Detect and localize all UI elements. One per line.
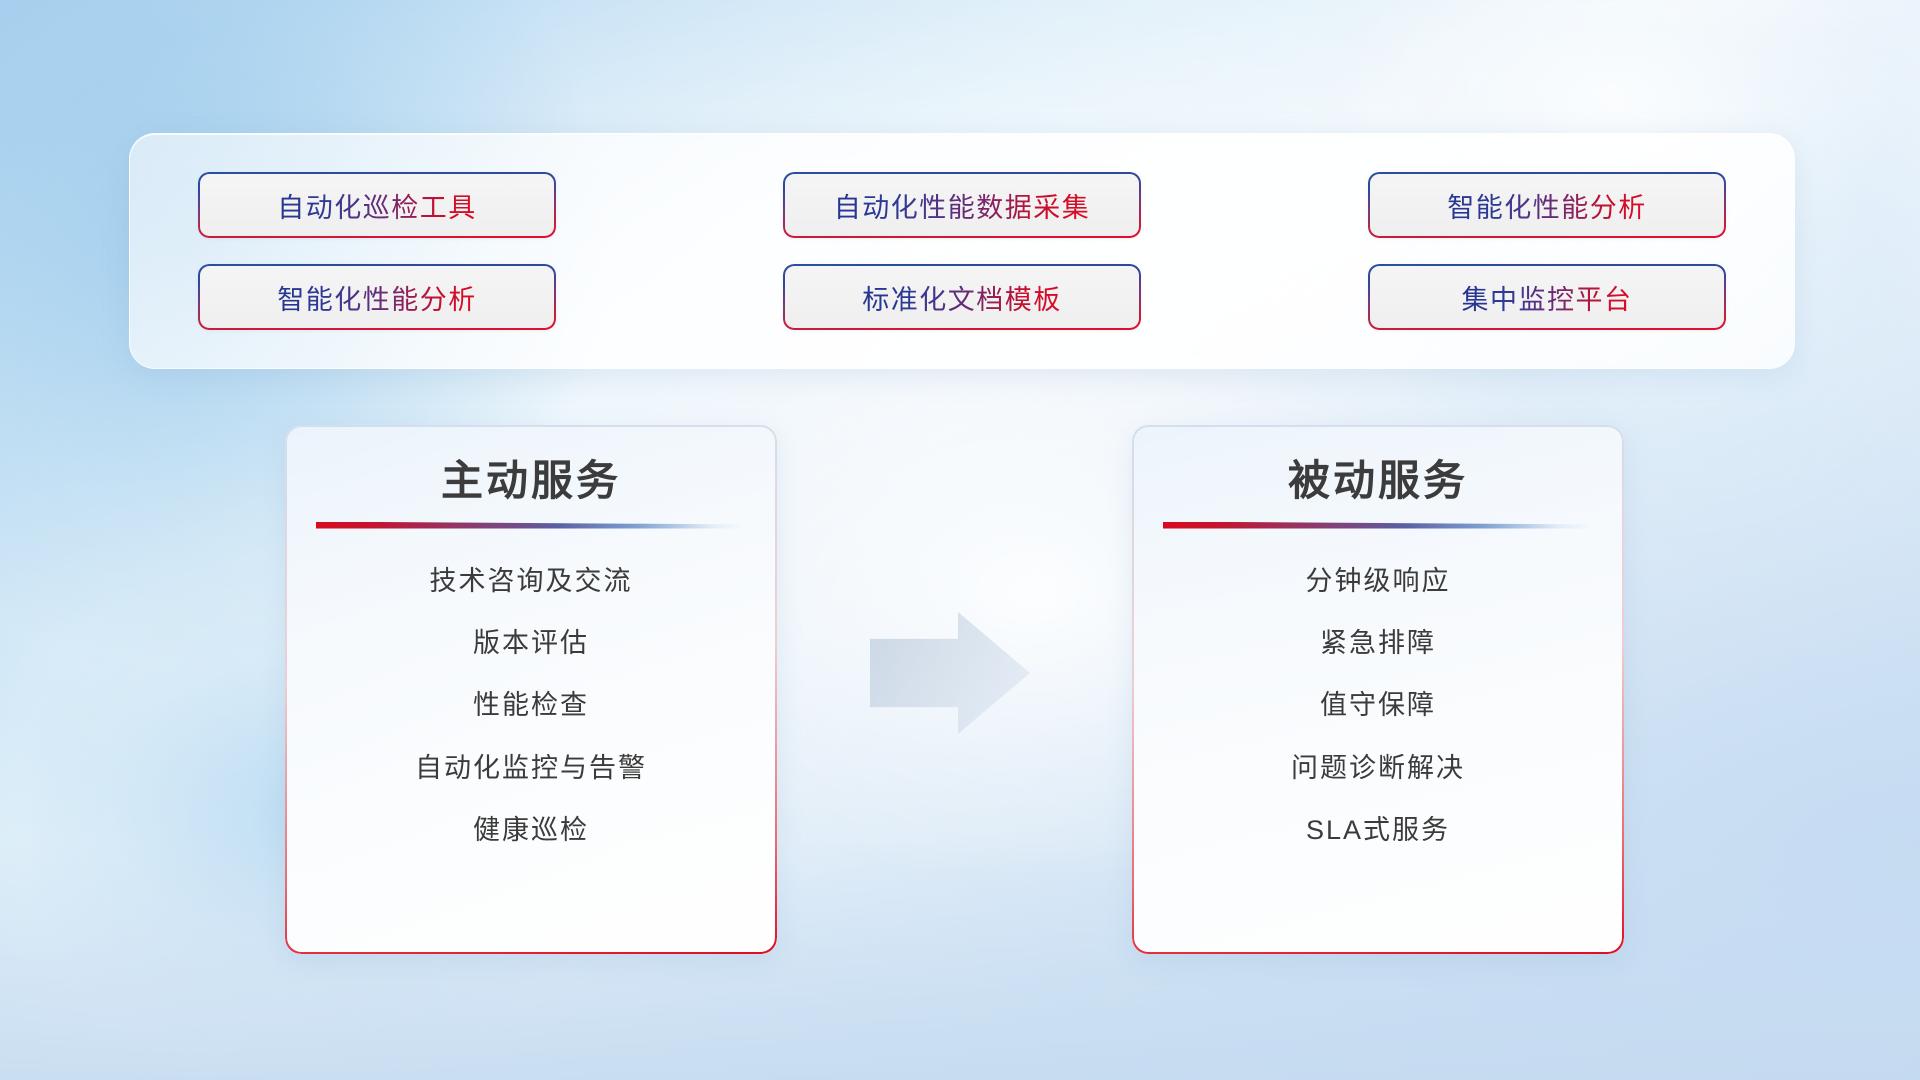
list-item: 值守保障 [1320, 689, 1436, 721]
card-service-list: 技术咨询及交流 版本评估 性能检查 自动化监控与告警 健康巡检 [285, 565, 777, 847]
capability-chip-intelligent-performance-analysis[interactable]: 智能化性能分析 [1368, 172, 1726, 238]
card-title: 被动服务 [1288, 455, 1468, 508]
card-title: 主动服务 [441, 455, 621, 508]
list-item: 技术咨询及交流 [430, 565, 633, 597]
capability-chip-label: 自动化性能数据采集 [834, 186, 1091, 225]
capability-chip-automated-inspection-tool[interactable]: 自动化巡检工具 [198, 172, 556, 238]
capability-chip-label: 智能化性能分析 [277, 278, 477, 317]
capability-chip-label: 集中监控平台 [1462, 278, 1633, 317]
capability-panel: 自动化巡检工具 自动化性能数据采集 智能化性能分析 智能化性能分析 标准化文档模… [129, 133, 1795, 369]
capability-chip-centralized-monitoring-platform[interactable]: 集中监控平台 [1368, 264, 1726, 330]
list-item: 版本评估 [473, 627, 589, 659]
list-item: 分钟级响应 [1306, 565, 1451, 597]
capability-chip-standardized-document-template[interactable]: 标准化文档模板 [783, 264, 1141, 330]
list-item: 紧急排障 [1320, 627, 1436, 659]
capability-row-1: 自动化巡检工具 自动化性能数据采集 智能化性能分析 [198, 172, 1726, 238]
capability-chip-label: 智能化性能分析 [1447, 186, 1647, 225]
card-service-list: 分钟级响应 紧急排障 值守保障 问题诊断解决 SLA式服务 [1132, 565, 1624, 847]
list-item: SLA式服务 [1306, 814, 1450, 846]
card-inner: 主动服务 技术咨询及交流 版本评估 性能检查 自动化监控与告警 健康巡检 [285, 425, 777, 954]
capability-chip-intelligent-performance-analysis-2[interactable]: 智能化性能分析 [198, 264, 556, 330]
capability-row-2: 智能化性能分析 标准化文档模板 集中监控平台 [198, 264, 1726, 330]
card-divider [316, 522, 746, 529]
capability-chip-automated-performance-data-collection[interactable]: 自动化性能数据采集 [783, 172, 1141, 238]
list-item: 性能检查 [473, 689, 589, 721]
card-divider [1163, 522, 1593, 529]
card-inner: 被动服务 分钟级响应 紧急排障 值守保障 问题诊断解决 SLA式服务 [1132, 425, 1624, 954]
capability-chip-label: 自动化巡检工具 [277, 186, 477, 225]
card-proactive-service: 主动服务 技术咨询及交流 版本评估 性能检查 自动化监控与告警 健康巡检 [285, 425, 777, 954]
card-reactive-service: 被动服务 分钟级响应 紧急排障 值守保障 问题诊断解决 SLA式服务 [1132, 425, 1624, 954]
list-item: 健康巡检 [473, 814, 589, 846]
list-item: 问题诊断解决 [1291, 752, 1465, 784]
list-item: 自动化监控与告警 [415, 752, 647, 784]
capability-chip-label: 标准化文档模板 [862, 278, 1062, 317]
